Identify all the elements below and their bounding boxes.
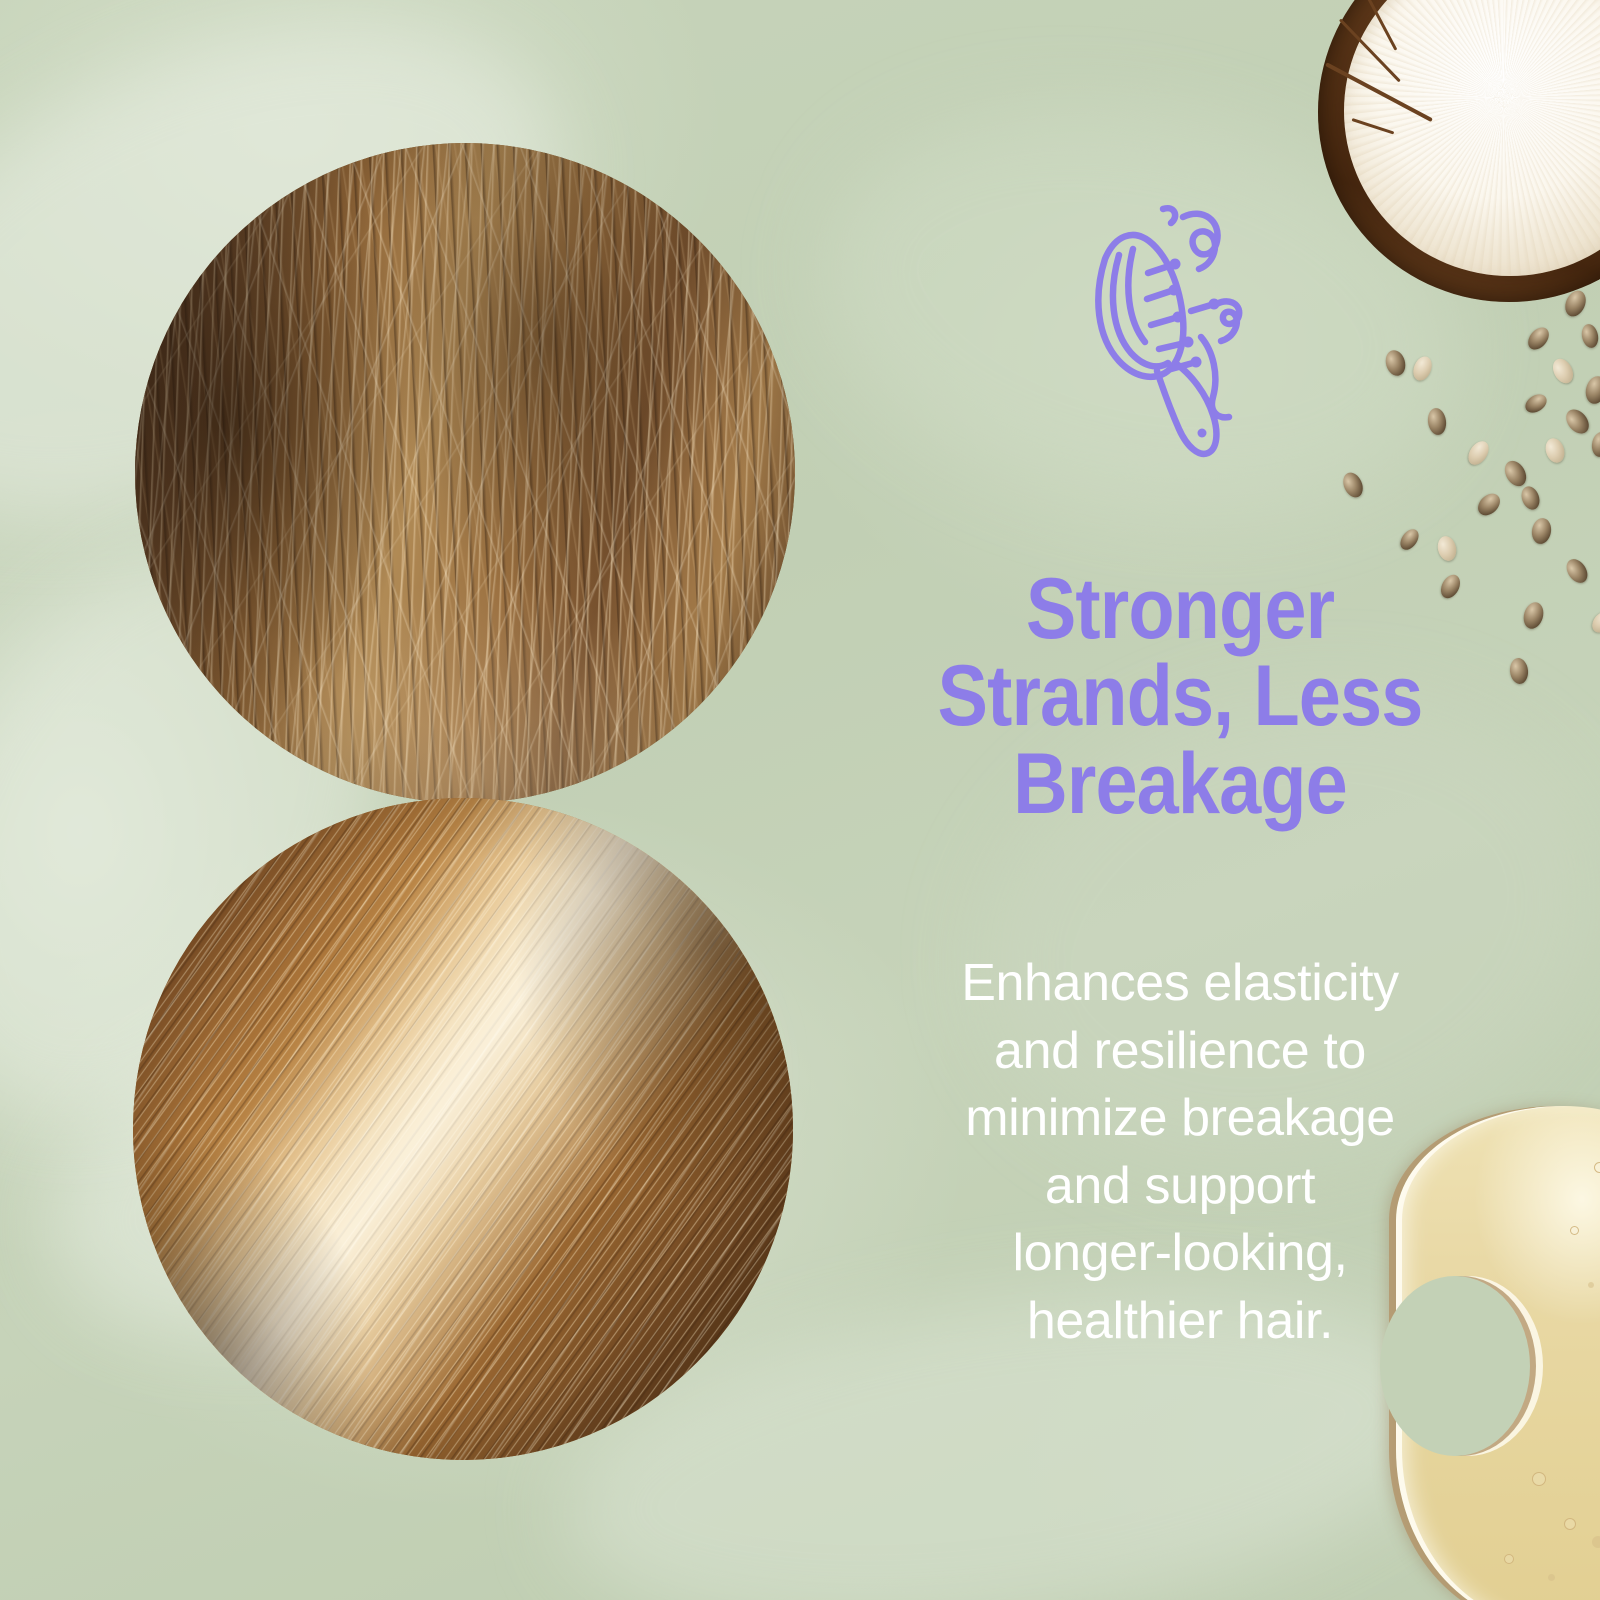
chia-seed [1521,600,1547,631]
chia-seed [1562,555,1591,587]
oil-speck [1548,1574,1555,1581]
oil-speck [1592,1536,1600,1548]
healthy-hair-photo [133,798,793,1460]
chia-seed [1509,657,1530,685]
chia-seed [1590,431,1600,458]
oil-bubble [1504,1554,1514,1564]
chia-seed [1530,517,1553,546]
oil-bubble [1570,1226,1579,1235]
chia-seed [1588,607,1600,636]
headline-line-3: Breakage [916,741,1444,829]
chia-seed [1580,323,1600,350]
headline-line-1: Stronger [916,566,1444,654]
body-line-6: healthier hair. [890,1288,1470,1356]
chia-seed [1561,287,1589,319]
chia-seed [1524,323,1553,353]
oil-bubble [1564,1518,1576,1530]
chia-seed [1562,405,1594,438]
chia-seed [1583,374,1600,406]
oil-bubble [1594,1162,1600,1173]
right-content-column: Stronger Strands, Less Breakage Enhances… [880,0,1480,1600]
damaged-hair-shading [135,143,795,803]
infographic-canvas: Stronger Strands, Less Breakage Enhances… [0,0,1600,1600]
body-line-2: and resilience to [890,1018,1470,1086]
body-line-5: longer-looking, [890,1220,1470,1288]
oil-speck [1588,1282,1594,1288]
chia-seed [1501,457,1531,490]
damaged-hair-photo [135,143,795,803]
page-title: Stronger Strands, Less Breakage [916,566,1444,829]
headline-line-2: Strands, Less [916,653,1444,741]
chia-seed [1549,355,1577,386]
hair-brush-icon [1075,185,1260,465]
oil-bubble [1532,1472,1546,1486]
body-line-3: minimize breakage [890,1085,1470,1153]
chia-seed [1518,484,1542,512]
healthy-hair-shading [133,798,793,1460]
chia-seed [1522,391,1550,417]
body-description: Enhances elasticity and resilience to mi… [890,950,1470,1356]
chia-seed [1543,436,1568,465]
body-line-1: Enhances elasticity [890,950,1470,1018]
body-line-4: and support [890,1153,1470,1221]
